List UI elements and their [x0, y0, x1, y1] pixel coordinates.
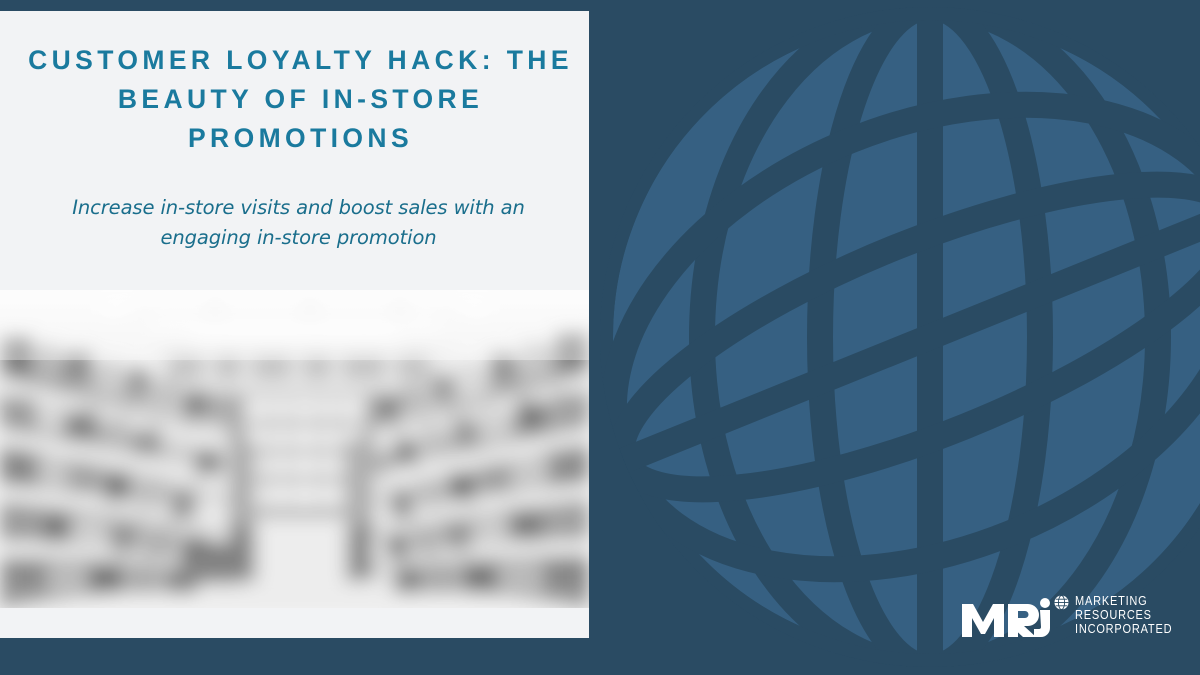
store-aisle-photo	[0, 290, 589, 608]
logo-wordmark: MARKETING RESOURCES INCORPORATED	[1075, 595, 1186, 638]
page-title: Customer Loyalty Hack: The Beauty of In-…	[0, 41, 589, 159]
content-panel: Customer Loyalty Hack: The Beauty of In-…	[0, 11, 589, 638]
promo-card: Customer Loyalty Hack: The Beauty of In-…	[0, 0, 1200, 675]
globe-icon	[1054, 595, 1069, 610]
mri-logo: MARKETING RESOURCES INCORPORATED	[960, 595, 1186, 638]
logo-line-marketing: MARKETING	[1075, 595, 1172, 608]
logo-line-resources: RESOURCES	[1075, 609, 1172, 622]
logo-line-incorporated: INCORPORATED	[1075, 623, 1172, 636]
mri-logo-mark	[960, 596, 1056, 638]
subtitle-text: Increase in-store visits and boost sales…	[0, 193, 589, 253]
globe-grid-icon	[600, 0, 1200, 675]
